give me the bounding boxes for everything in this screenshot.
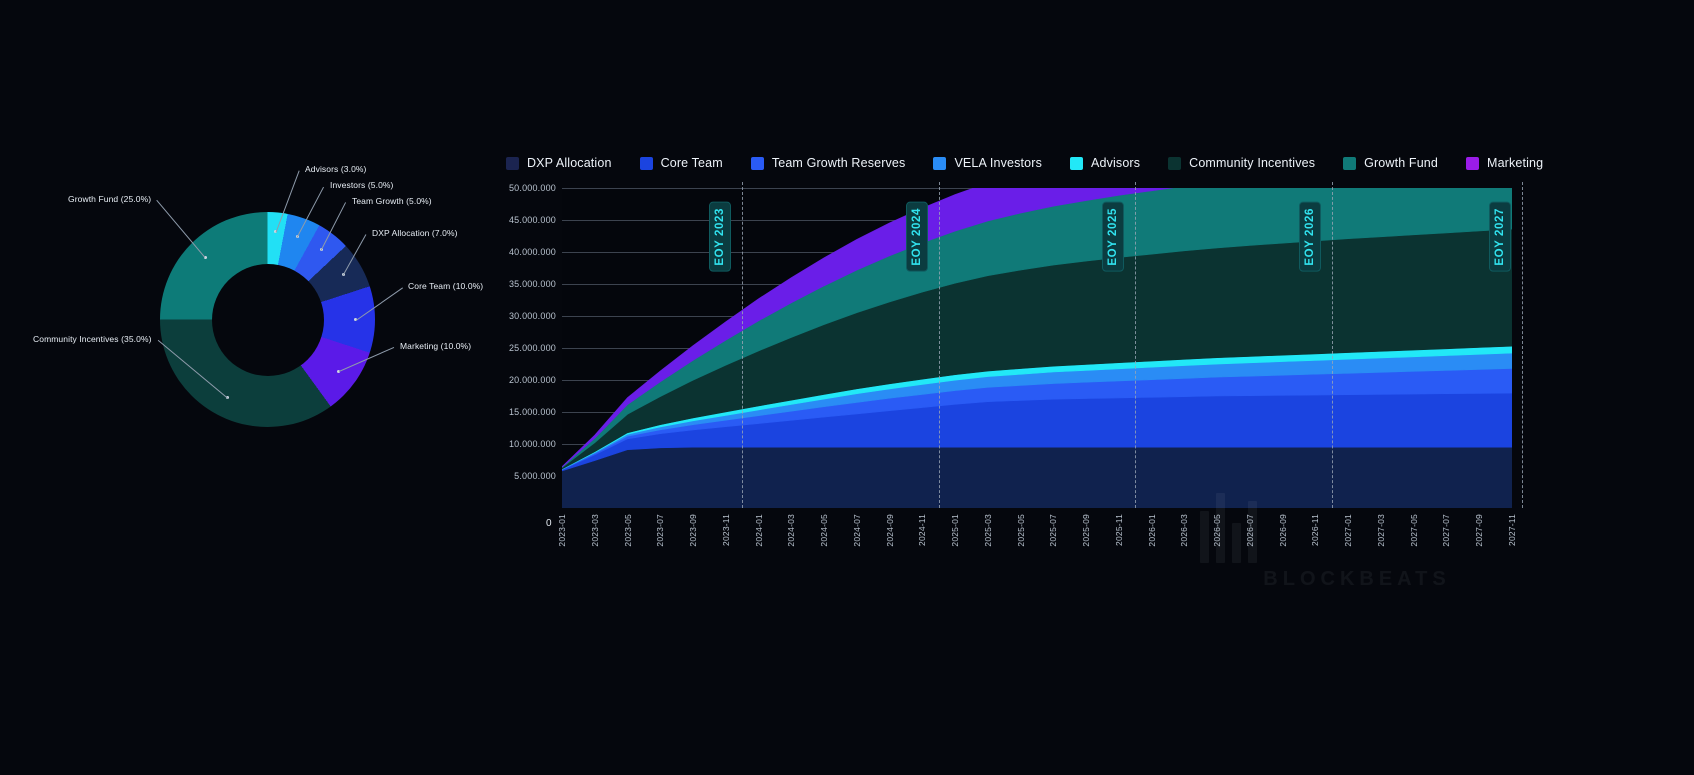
x-axis-tick-label: 2026-01 (1147, 514, 1157, 547)
y-axis-tick-label: 45.000.000 (509, 215, 556, 225)
x-axis-tick-label: 2027-05 (1409, 514, 1419, 547)
plot-area: BLOCKBEATS EOY 2023EOY 2024EOY 2025EOY 2… (562, 188, 1512, 508)
x-axis-tick-label: 2027-01 (1343, 514, 1353, 547)
x-axis-tick-label: 2023-03 (590, 514, 600, 547)
x-axis-labels: 2023-012023-032023-052023-072023-092023-… (562, 510, 1512, 558)
chart-legend: DXP AllocationCore TeamTeam Growth Reser… (506, 152, 1524, 174)
y-axis-tick-label: 5.000.000 (514, 471, 556, 481)
legend-item-label: Team Growth Reserves (772, 156, 906, 170)
x-axis-tick-label: 2023-09 (688, 514, 698, 547)
donut-label-dxp-allocation: DXP Allocation (7.0%) (372, 228, 458, 238)
legend-item-label: Community Incentives (1189, 156, 1315, 170)
watermark-text: BLOCKBEATS (1192, 568, 1522, 591)
x-axis-tick-label: 2023-01 (557, 514, 567, 547)
x-axis-tick-label: 2025-01 (950, 514, 960, 547)
legend-item-label: Core Team (661, 156, 723, 170)
x-axis-tick-label: 2026-09 (1278, 514, 1288, 547)
x-axis-tick-label: 2025-11 (1114, 514, 1124, 546)
donut-label-advisors: Advisors (3.0%) (305, 164, 367, 174)
legend-swatch-icon (1466, 157, 1479, 170)
x-axis-tick-label: 2023-05 (623, 514, 633, 547)
x-axis-tick-label: 2027-07 (1441, 514, 1451, 547)
y-axis-labels: 5.000.00010.000.00015.000.00020.000.0002… (498, 188, 560, 508)
legend-item-growth-fund[interactable]: Growth Fund (1343, 156, 1438, 170)
legend-item-community-incentives[interactable]: Community Incentives (1168, 156, 1315, 170)
eoy-badge-eoy-2024[interactable]: EOY 2024 (906, 202, 928, 272)
x-axis-tick-label: 2025-03 (983, 514, 993, 547)
x-axis-tick-label: 2025-07 (1048, 514, 1058, 547)
eoy-badge-eoy-2026[interactable]: EOY 2026 (1299, 202, 1321, 272)
x-axis-tick-label: 2024-05 (819, 514, 829, 547)
x-axis-tick-label: 2023-07 (655, 514, 665, 547)
donut-label-core-team: Core Team (10.0%) (408, 281, 483, 291)
legend-swatch-icon (506, 157, 519, 170)
x-axis-tick-label: 2025-05 (1016, 514, 1026, 547)
x-axis-tick-label: 2024-03 (786, 514, 796, 547)
legend-item-vela-investors[interactable]: VELA Investors (933, 156, 1042, 170)
donut-label-team-growth: Team Growth (5.0%) (352, 196, 432, 206)
y-axis-tick-label: 40.000.000 (509, 247, 556, 257)
eoy-dashed-line (1522, 182, 1523, 508)
eoy-dashed-line (939, 182, 940, 508)
legend-swatch-icon (640, 157, 653, 170)
donut-label-marketing: Marketing (10.0%) (400, 341, 471, 351)
y-axis-zero-label: 0 (546, 518, 552, 529)
eoy-dashed-line (1332, 182, 1333, 508)
y-axis-tick-label: 25.000.000 (509, 343, 556, 353)
x-axis-tick-label: 2026-07 (1245, 514, 1255, 547)
eoy-badge-eoy-2023[interactable]: EOY 2023 (709, 202, 731, 272)
legend-swatch-icon (1343, 157, 1356, 170)
x-axis-tick-label: 2023-11 (721, 514, 731, 546)
eoy-badge-eoy-2027[interactable]: EOY 2027 (1489, 202, 1511, 272)
y-axis-tick-label: 35.000.000 (509, 279, 556, 289)
legend-item-label: Growth Fund (1364, 156, 1438, 170)
chart-page: Advisors (3.0%)Investors (5.0%)Team Grow… (0, 0, 1694, 775)
y-axis-tick-label: 20.000.000 (509, 375, 556, 385)
y-axis-tick-label: 15.000.000 (509, 407, 556, 417)
legend-item-marketing[interactable]: Marketing (1466, 156, 1543, 170)
x-axis-tick-label: 2027-03 (1376, 514, 1386, 547)
legend-item-label: Advisors (1091, 156, 1140, 170)
legend-item-dxp-allocation[interactable]: DXP Allocation (506, 156, 612, 170)
legend-item-label: Marketing (1487, 156, 1543, 170)
area-series-dxp-allocation (562, 447, 1512, 508)
legend-item-label: VELA Investors (954, 156, 1042, 170)
x-axis-tick-label: 2027-11 (1507, 514, 1517, 546)
donut-label-growth-fund: Growth Fund (25.0%) (68, 194, 151, 204)
legend-swatch-icon (933, 157, 946, 170)
y-axis-tick-label: 10.000.000 (509, 439, 556, 449)
legend-swatch-icon (751, 157, 764, 170)
legend-swatch-icon (1070, 157, 1083, 170)
emission-area-chart-panel: DXP AllocationCore TeamTeam Growth Reser… (498, 140, 1528, 560)
x-axis-tick-label: 2027-09 (1474, 514, 1484, 547)
x-axis-tick-label: 2024-07 (852, 514, 862, 547)
x-axis-tick-label: 2026-03 (1179, 514, 1189, 547)
legend-item-core-team[interactable]: Core Team (640, 156, 723, 170)
legend-item-team-growth-reserves[interactable]: Team Growth Reserves (751, 156, 906, 170)
x-axis-tick-label: 2024-11 (917, 514, 927, 546)
y-axis-tick-label: 30.000.000 (509, 311, 556, 321)
token-allocation-donut-panel: Advisors (3.0%)Investors (5.0%)Team Grow… (0, 150, 520, 510)
x-axis-tick-label: 2024-01 (754, 514, 764, 547)
eoy-dashed-line (742, 182, 743, 508)
donut-hole (212, 264, 324, 376)
x-axis-tick-label: 2026-11 (1310, 514, 1320, 546)
donut-label-community-incentives: Community Incentives (35.0%) (33, 334, 152, 344)
stacked-area-series (562, 188, 1512, 508)
eoy-badge-eoy-2025[interactable]: EOY 2025 (1102, 202, 1124, 272)
legend-item-label: DXP Allocation (527, 156, 612, 170)
x-axis-tick-label: 2025-09 (1081, 514, 1091, 547)
donut-label-investors: Investors (5.0%) (330, 180, 393, 190)
legend-item-advisors[interactable]: Advisors (1070, 156, 1140, 170)
eoy-dashed-line (1135, 182, 1136, 508)
x-axis-tick-label: 2026-05 (1212, 514, 1222, 547)
legend-swatch-icon (1168, 157, 1181, 170)
plot-area-outer: 5.000.00010.000.00015.000.00020.000.0002… (498, 188, 1528, 560)
x-axis-tick-label: 2024-09 (885, 514, 895, 547)
y-axis-tick-label: 50.000.000 (509, 183, 556, 193)
